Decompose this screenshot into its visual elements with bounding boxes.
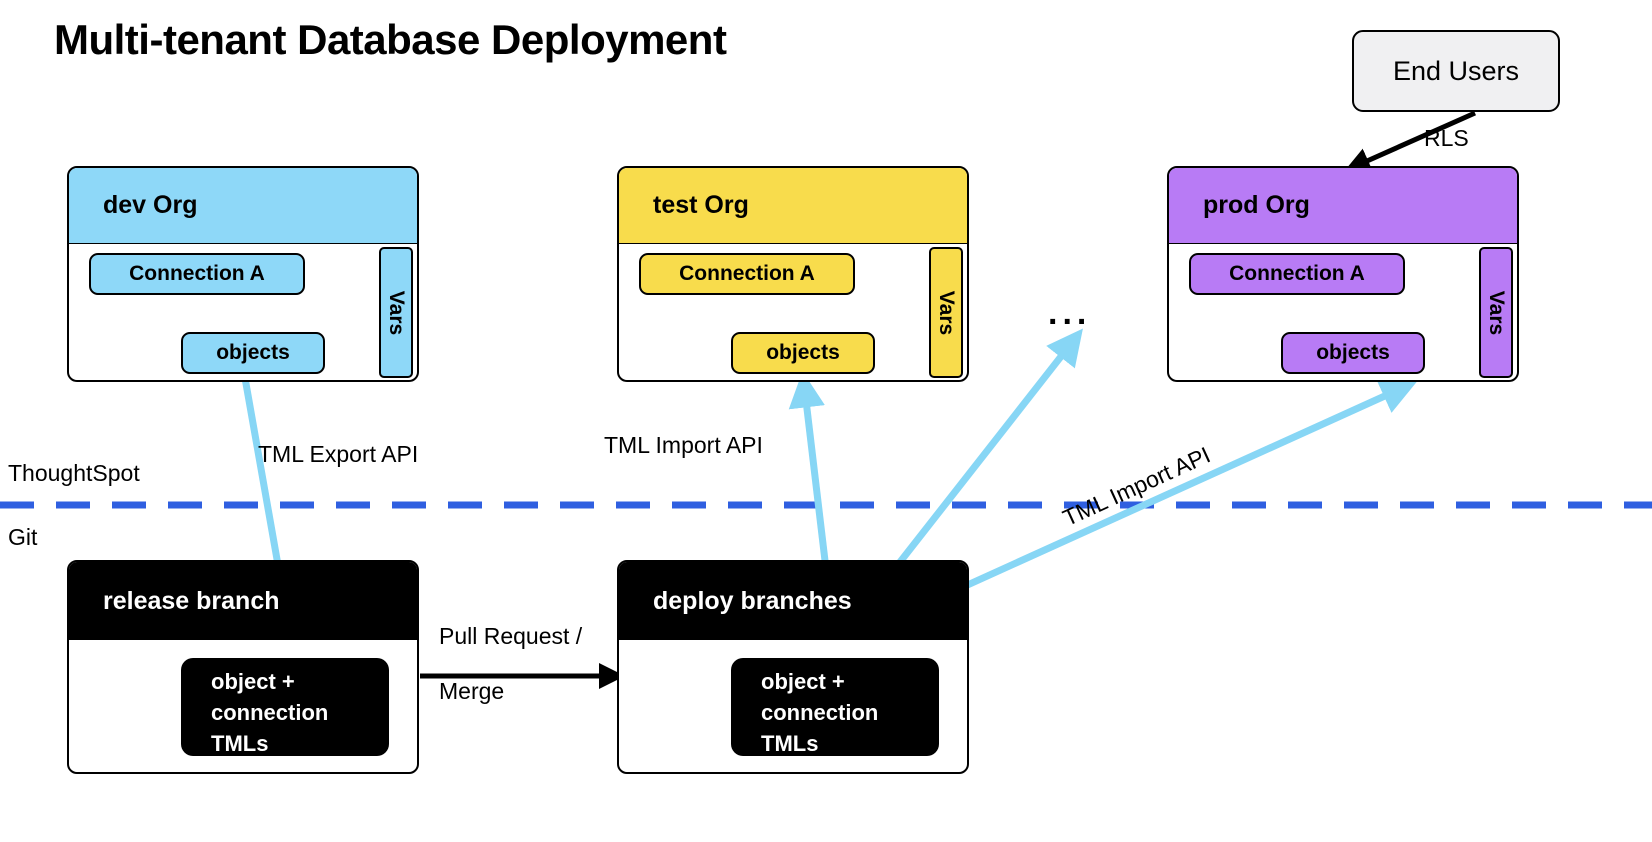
page-title: Multi-tenant Database Deployment [54, 16, 726, 64]
edge-label-tml-import-prod: TML Import API [1059, 442, 1215, 532]
tml-pill-release[interactable]: object + connection TMLs [181, 658, 389, 756]
branch-header-release: release branch [69, 562, 417, 640]
edge-label-merge: Merge [439, 678, 504, 705]
edge-label-rls: RLS [1424, 125, 1469, 152]
org-title-dev: dev Org [103, 191, 197, 220]
org-title-prod: prod Org [1203, 191, 1310, 220]
connection-pill-prod[interactable]: Connection A [1189, 253, 1405, 295]
zone-label-git: Git [8, 524, 37, 551]
connection-pill-dev[interactable]: Connection A [89, 253, 305, 295]
vars-box-prod[interactable]: Vars [1479, 247, 1513, 378]
diagram-canvas: Multi-tenant Database Deployment End Use… [0, 0, 1652, 842]
edge-label-tml-import-test: TML Import API [604, 432, 763, 459]
org-header-test: test Org [619, 168, 967, 244]
edge-label-pull-request: Pull Request / [439, 623, 582, 650]
org-header-prod: prod Org [1169, 168, 1517, 244]
branch-header-deploy: deploy branches [619, 562, 967, 640]
end-users-box[interactable]: End Users [1352, 30, 1560, 112]
zone-label-thoughtspot: ThoughtSpot [8, 460, 140, 487]
vars-box-dev[interactable]: Vars [379, 247, 413, 378]
branch-box-release[interactable]: release branch object + connection TMLs [67, 560, 419, 774]
objects-label-test: objects [766, 341, 840, 365]
org-body-test: Connection A objects Vars [619, 244, 967, 381]
org-box-prod[interactable]: prod Org Connection A objects Vars [1167, 166, 1519, 382]
connection-pill-test[interactable]: Connection A [639, 253, 855, 295]
branch-title-deploy: deploy branches [653, 587, 852, 616]
vars-box-test[interactable]: Vars [929, 247, 963, 378]
connection-label-test: Connection A [679, 262, 815, 286]
connection-label-prod: Connection A [1229, 262, 1365, 286]
objects-pill-test[interactable]: objects [731, 332, 875, 374]
connection-label-dev: Connection A [129, 262, 265, 286]
tml-pill-deploy[interactable]: object + connection TMLs [731, 658, 939, 756]
objects-label-dev: objects [216, 341, 290, 365]
edge-label-tml-export: TML Export API [258, 441, 418, 468]
objects-pill-dev[interactable]: objects [181, 332, 325, 374]
branch-box-deploy[interactable]: deploy branches object + connection TMLs [617, 560, 969, 774]
objects-pill-prod[interactable]: objects [1281, 332, 1425, 374]
objects-label-prod: objects [1316, 341, 1390, 365]
vars-label-dev: Vars [384, 290, 408, 334]
org-body-prod: Connection A objects Vars [1169, 244, 1517, 381]
org-box-test[interactable]: test Org Connection A objects Vars [617, 166, 969, 382]
more-orgs-ellipsis: ... [1048, 294, 1091, 333]
org-box-dev[interactable]: dev Org Connection A objects Vars [67, 166, 419, 382]
branch-title-release: release branch [103, 587, 280, 616]
vars-label-test: Vars [934, 290, 958, 334]
end-users-label: End Users [1393, 56, 1519, 87]
org-header-dev: dev Org [69, 168, 417, 244]
vars-label-prod: Vars [1484, 290, 1508, 334]
org-title-test: test Org [653, 191, 749, 220]
org-body-dev: Connection A objects Vars [69, 244, 417, 381]
